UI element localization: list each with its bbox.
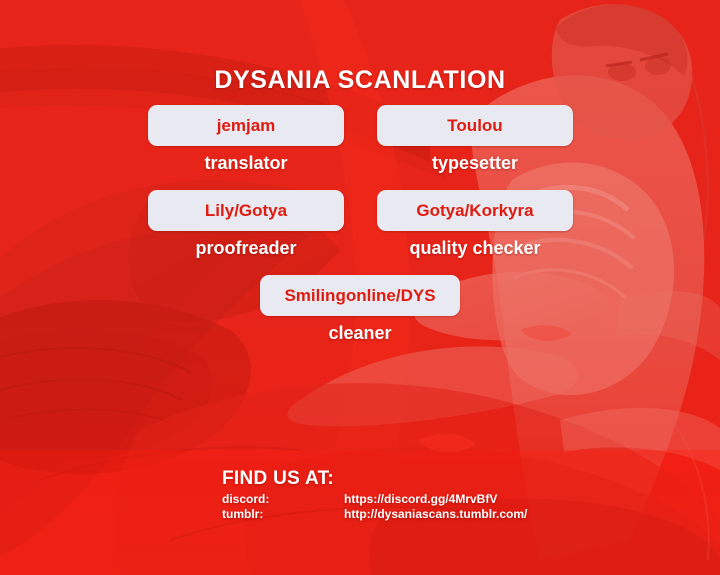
contact-url-tumblr[interactable]: http://dysaniascans.tumblr.com/	[344, 507, 527, 522]
contact-row-tumblr: tumblr: http://dysaniascans.tumblr.com/	[222, 507, 527, 522]
credit-entry-proofreader: Lily/Gotya proofreader	[148, 190, 344, 259]
credit-role-label: proofreader	[148, 238, 344, 259]
contact-label-discord: discord:	[222, 492, 344, 507]
scanlation-credits-page: DYSANIA SCANLATION jemjam translator Tou…	[0, 0, 720, 575]
contact-table: discord: https://discord.gg/4MrvBfV tumb…	[222, 492, 527, 522]
credit-name-box: jemjam	[148, 105, 344, 146]
credit-role-label: typesetter	[377, 153, 573, 174]
credit-entry-quality-checker: Gotya/Korkyra quality checker	[377, 190, 573, 259]
credit-name-box: Lily/Gotya	[148, 190, 344, 231]
credit-entry-cleaner: Smilingonline/DYS cleaner	[260, 275, 460, 344]
contact-row-discord: discord: https://discord.gg/4MrvBfV	[222, 492, 527, 507]
credit-role-label: translator	[148, 153, 344, 174]
page-title: DYSANIA SCANLATION	[0, 66, 720, 95]
contact-url-discord[interactable]: https://discord.gg/4MrvBfV	[344, 492, 527, 507]
credit-entry-translator: jemjam translator	[148, 105, 344, 174]
credit-entry-typesetter: Toulou typesetter	[377, 105, 573, 174]
find-us-block: FIND US AT: discord: https://discord.gg/…	[222, 468, 527, 522]
credit-name-box: Toulou	[377, 105, 573, 146]
contact-label-tumblr: tumblr:	[222, 507, 344, 522]
credit-role-label: quality checker	[377, 238, 573, 259]
credit-name-box: Smilingonline/DYS	[260, 275, 460, 316]
find-us-heading: FIND US AT:	[222, 468, 527, 490]
credit-role-label: cleaner	[260, 323, 460, 344]
credit-name-box: Gotya/Korkyra	[377, 190, 573, 231]
